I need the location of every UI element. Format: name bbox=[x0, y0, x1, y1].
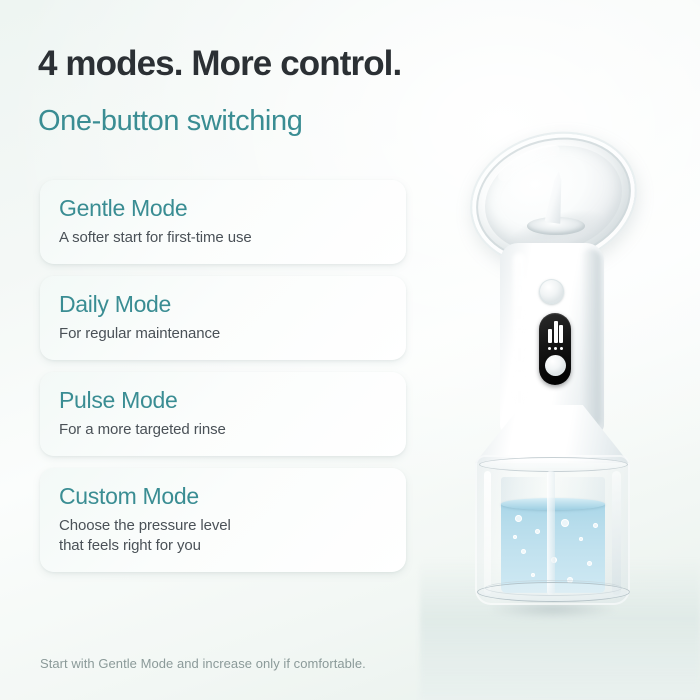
bubble bbox=[579, 537, 583, 541]
mode-card-description: Choose the pressure level that feels rig… bbox=[59, 516, 387, 556]
mode-card-list: Gentle Mode A softer start for first-tim… bbox=[40, 180, 406, 572]
bubble bbox=[513, 535, 517, 539]
footnote-text: Start with Gentle Mode and increase only… bbox=[40, 655, 366, 672]
level-bar-2 bbox=[554, 321, 558, 343]
mode-card-description: A softer start for first-time use bbox=[59, 228, 387, 248]
mode-card-gentle[interactable]: Gentle Mode A softer start for first-tim… bbox=[40, 180, 406, 264]
mode-card-daily[interactable]: Daily Mode For regular maintenance bbox=[40, 276, 406, 360]
pressure-level-bars-icon bbox=[548, 321, 563, 343]
bubble bbox=[593, 523, 598, 528]
indicator-dot-1 bbox=[548, 347, 551, 350]
mode-card-title: Gentle Mode bbox=[59, 195, 387, 222]
indicator-dot-3 bbox=[560, 347, 563, 350]
mode-card-custom[interactable]: Custom Mode Choose the pressure level th… bbox=[40, 468, 406, 572]
mode-card-title: Custom Mode bbox=[59, 483, 387, 510]
mode-button[interactable] bbox=[539, 279, 564, 304]
mode-card-description: For regular maintenance bbox=[59, 324, 387, 344]
mode-card-title: Pulse Mode bbox=[59, 387, 387, 414]
page-title: 4 modes. More control. bbox=[38, 44, 401, 84]
bubble bbox=[535, 529, 540, 534]
bubble bbox=[521, 549, 526, 554]
mode-display-panel[interactable] bbox=[539, 313, 571, 385]
level-bar-3 bbox=[559, 325, 563, 343]
bubble bbox=[561, 519, 569, 527]
body-shading bbox=[581, 249, 601, 429]
power-button[interactable] bbox=[545, 355, 566, 376]
water-tank bbox=[475, 455, 630, 605]
tank-base-inner-ring bbox=[485, 580, 622, 596]
bubble bbox=[587, 561, 592, 566]
page-subtitle: One-button switching bbox=[38, 103, 302, 139]
level-bar-1 bbox=[548, 329, 552, 343]
mode-card-title: Daily Mode bbox=[59, 291, 387, 318]
bubble bbox=[531, 573, 535, 577]
indicator-dot-2 bbox=[554, 347, 557, 350]
intake-tube bbox=[547, 471, 555, 595]
product-feature-poster: 4 modes. More control. One-button switch… bbox=[0, 0, 700, 700]
tank-top-ring bbox=[479, 457, 628, 472]
tank-highlight-right bbox=[612, 471, 621, 595]
mode-indicator-dots-icon bbox=[548, 347, 563, 351]
bubble bbox=[515, 515, 522, 522]
body-highlight bbox=[513, 253, 526, 423]
mode-card-pulse[interactable]: Pulse Mode For a more targeted rinse bbox=[40, 372, 406, 456]
product-image-water-flosser bbox=[455, 125, 690, 630]
tank-highlight-left bbox=[484, 471, 491, 595]
mode-card-description: For a more targeted rinse bbox=[59, 420, 387, 440]
